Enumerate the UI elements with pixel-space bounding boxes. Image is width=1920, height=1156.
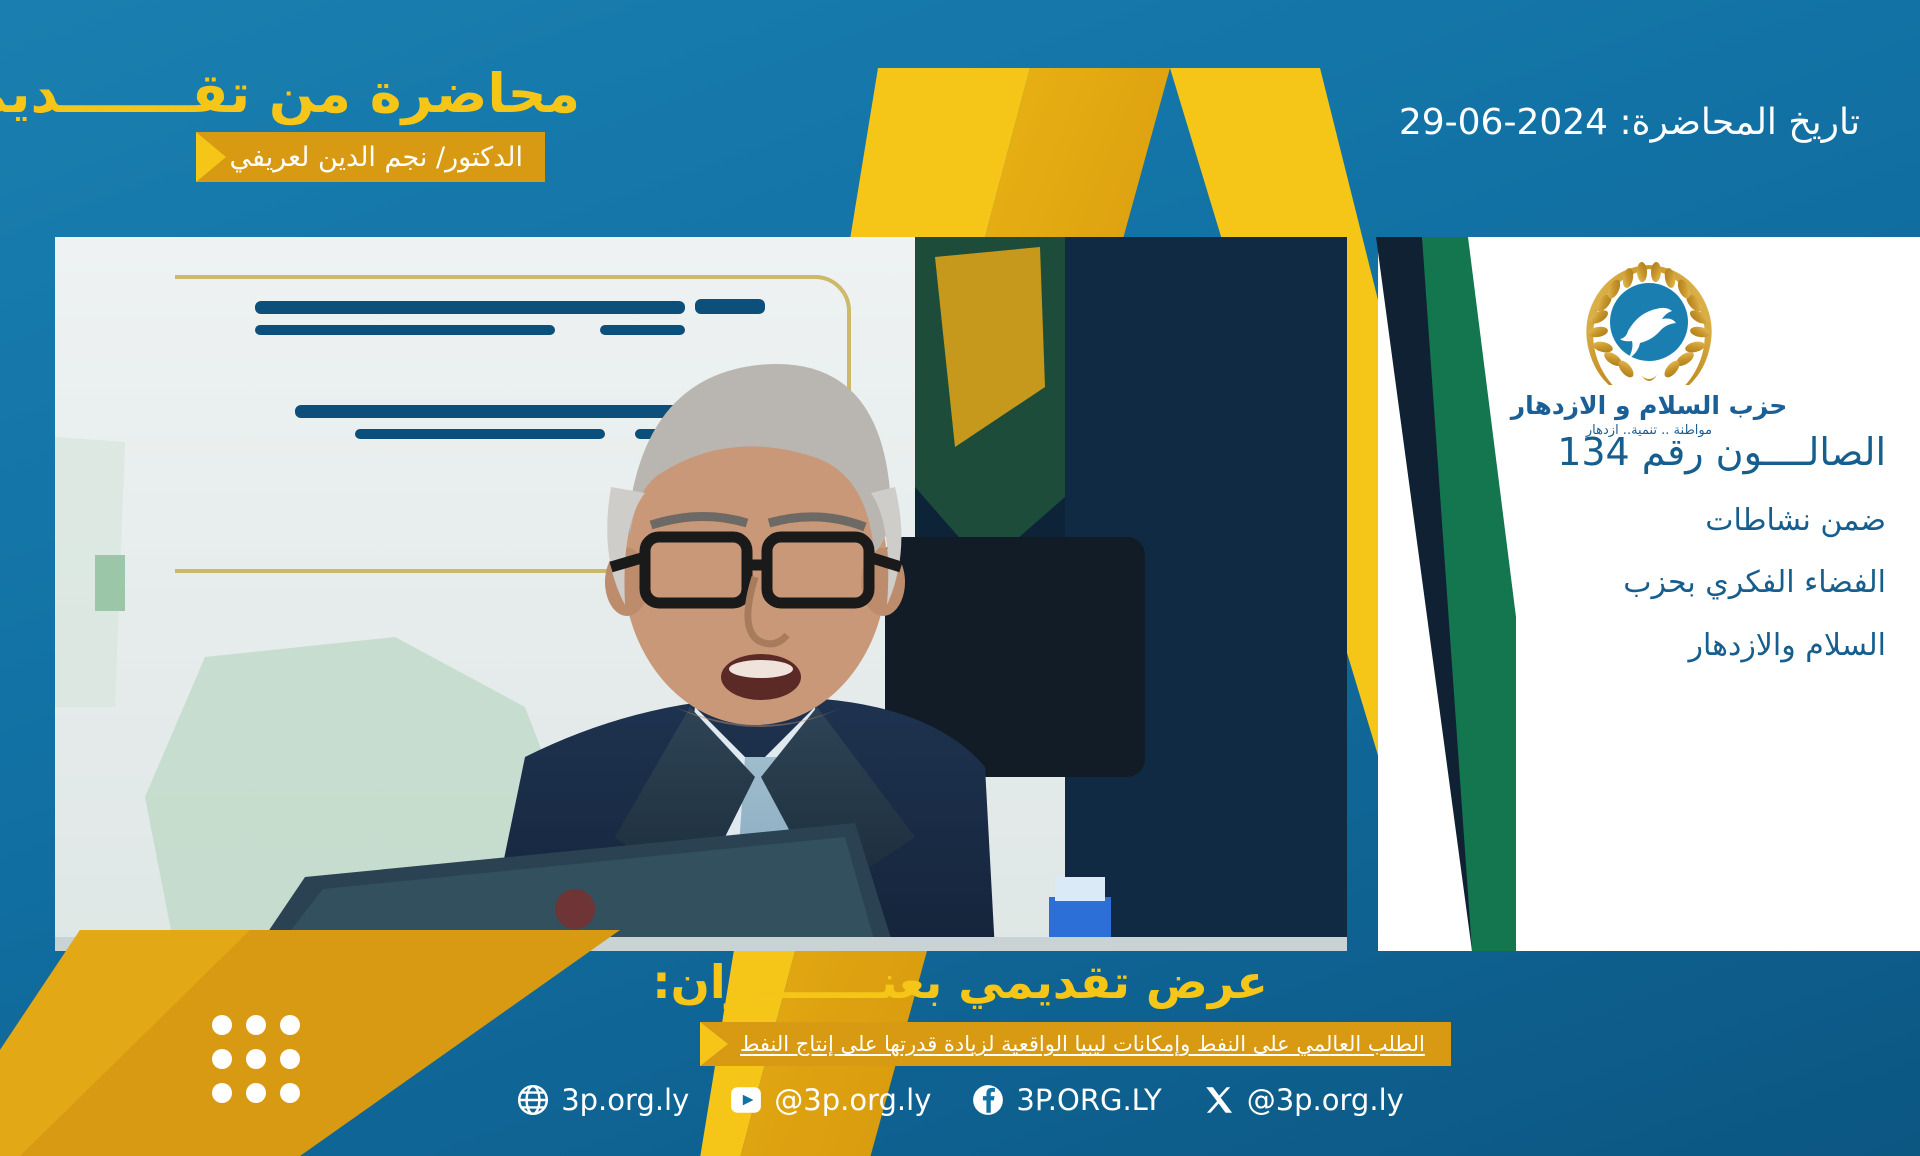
poster-canvas: محاضرة من تقـــــــديم الدكتور/ نجم الدي… [0,0,1920,1156]
dot [212,1015,232,1035]
event-line-1: ضمن نشاطات [1402,501,1886,542]
dot [212,1049,232,1069]
lecture-date: تاريخ المحاضرة: 2024-06-29 [1040,100,1860,145]
dove-laurel-logo-icon [1586,259,1712,385]
page-title: محاضرة من تقـــــــديم [0,62,580,125]
party-logo-block: حزب السلام و الازدهار مواطنة .. تنمية.. … [1378,259,1920,438]
dot [280,1049,300,1069]
speaker-name: الدكتور/ نجم الدين لعريفي [230,142,523,173]
presentation-subject-banner: الطلب العالمي على النفط وإمكانات ليبيا ا… [700,1022,1451,1066]
ribbon-arrow-icon [196,132,226,182]
x-twitter-icon [1202,1083,1236,1117]
social-label-youtube: @3p.org.ly [774,1083,931,1117]
party-name: حزب السلام و الازدهار [1511,391,1788,420]
salon-number-title: الصالــــون رقم 134 [1402,429,1886,477]
facebook-icon [971,1083,1005,1117]
social-label-facebook: 3P.ORG.LY [1016,1083,1161,1117]
dot [280,1015,300,1035]
speaker-ribbon: الدكتور/ نجم الدين لعريفي [196,132,545,182]
dot [246,1015,266,1035]
dot [246,1049,266,1069]
youtube-icon [729,1083,763,1117]
banner-arrow-icon [700,1022,728,1066]
presentation-title-label: عرض تقديمي بعنــــــــوان: [0,955,1920,1009]
social-link-youtube[interactable]: @3p.org.ly [729,1083,931,1117]
presentation-subject: الطلب العالمي على النفط وإمكانات ليبيا ا… [740,1032,1425,1056]
social-label-x: @3p.org.ly [1247,1083,1404,1117]
event-line-3: السلام والازدهار [1402,626,1886,667]
social-link-facebook[interactable]: 3P.ORG.LY [971,1083,1161,1117]
speaker-photo-illustration [55,237,1347,951]
event-details: الصالــــون رقم 134 ضمن نشاطات الفضاء ال… [1402,429,1886,688]
event-line-2: الفضاء الفكري بحزب [1402,563,1886,604]
social-links-bar: 3p.org.ly @3p.org.ly 3P.ORG.LY @3p.org.l… [0,1083,1920,1117]
social-link-website[interactable]: 3p.org.ly [516,1083,689,1117]
speaker-photo [55,237,1347,951]
social-label-website: 3p.org.ly [561,1083,689,1117]
globe-icon [516,1083,550,1117]
social-link-x[interactable]: @3p.org.ly [1202,1083,1404,1117]
event-info-card: حزب السلام و الازدهار مواطنة .. تنمية.. … [1378,237,1920,951]
